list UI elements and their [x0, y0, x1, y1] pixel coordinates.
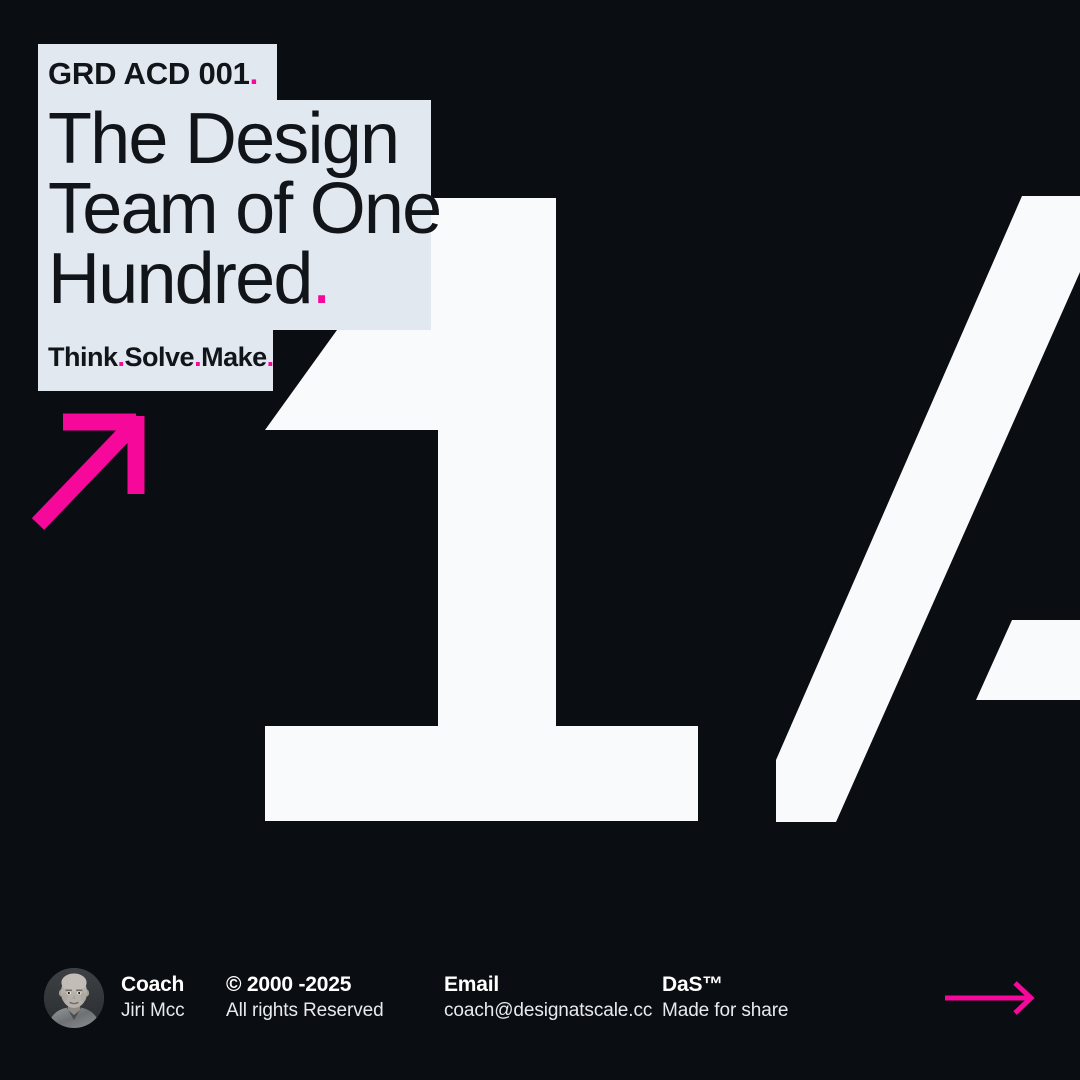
headline-card-stack: GRD ACD 001. The Design Team of One Hund… — [38, 44, 431, 391]
tagline-word-2: Solve — [125, 342, 195, 372]
tagline-dot-1: . — [118, 342, 125, 372]
headline-line-2: Team of One — [48, 174, 417, 244]
copyright-subtitle: All rights Reserved — [226, 999, 444, 1023]
poster-canvas: GRD ACD 001. The Design Team of One Hund… — [0, 0, 1080, 1080]
arrow-right-icon[interactable] — [945, 981, 1035, 1015]
headline-dot: . — [312, 239, 330, 319]
profile-name: Jiri Mcc — [121, 999, 185, 1023]
headline-line-3: Hundred. — [48, 244, 417, 314]
brand-tagline: Made for share — [662, 999, 788, 1023]
email-address[interactable]: coach@designatscale.cc — [444, 999, 662, 1023]
copyright-title: © 2000 -2025 — [226, 973, 444, 997]
brand-name: DaS™ — [662, 973, 788, 997]
footer-copyright: © 2000 -2025 All rights Reserved — [226, 973, 444, 1023]
tagline-dot-3: . — [267, 342, 274, 372]
headline-card: The Design Team of One Hundred. — [38, 100, 431, 330]
headline-line-1: The Design — [48, 104, 417, 174]
footer-email[interactable]: Email coach@designatscale.cc — [444, 973, 662, 1023]
profile-role: Coach — [121, 973, 185, 997]
arrow-up-right-icon[interactable] — [30, 400, 154, 532]
email-label: Email — [444, 973, 662, 997]
project-code-text: GRD ACD 001 — [48, 56, 250, 91]
headline-line-3-text: Hundred — [48, 239, 312, 319]
footer-brand: DaS™ Made for share — [662, 973, 788, 1023]
footer-profile[interactable]: Coach Jiri Mcc — [44, 968, 226, 1028]
tagline-word-1: Think — [48, 342, 118, 372]
project-code-card: GRD ACD 001. — [38, 44, 277, 100]
avatar — [44, 968, 104, 1028]
numeral-four-shape — [776, 196, 1080, 822]
footer-bar: Coach Jiri Mcc © 2000 -2025 All rights R… — [0, 950, 1080, 1080]
tagline-word-3: Make — [201, 342, 267, 372]
tagline-card: Think.Solve.Make. — [38, 330, 273, 391]
project-code-dot: . — [250, 56, 258, 91]
profile-text: Coach Jiri Mcc — [121, 973, 185, 1023]
